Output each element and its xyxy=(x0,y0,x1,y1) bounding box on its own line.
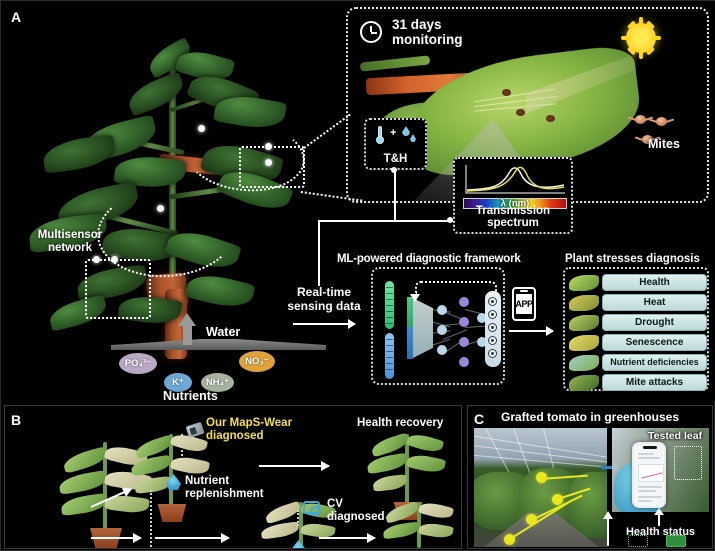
app-icon[interactable]: APP xyxy=(512,287,536,321)
tested-leaf-label: Tested leaf xyxy=(648,430,702,442)
stress-label-drought: Drought xyxy=(602,314,707,331)
spectrum-caption-line2: spectrum xyxy=(487,217,539,229)
stress-row-senescence[interactable]: Senescence xyxy=(569,333,707,352)
plant-recovered-bottom xyxy=(383,498,459,549)
health-recovery-label: Health recovery xyxy=(357,417,443,430)
timeline-divider xyxy=(150,490,152,549)
arrow-b-to-recovery xyxy=(259,465,329,467)
sensor-node-5 xyxy=(111,256,118,263)
spectrum-caption-line1: Transmission xyxy=(476,205,550,217)
monitoring-days: 31 days xyxy=(392,17,442,32)
stress-label-senescence: Senescence xyxy=(602,334,707,351)
plant-stresses-box: Health Heat Drought Senescence Nutrient … xyxy=(563,267,709,391)
panel-c-title: Grafted tomato in greenhouses xyxy=(468,410,712,424)
leaf-spot-3 xyxy=(546,115,555,122)
arrow-app-to-diagnosis xyxy=(509,330,553,332)
sensor-node-6 xyxy=(93,256,100,263)
nn-node-h1-2 xyxy=(437,325,447,335)
clock-icon xyxy=(360,21,382,43)
sensor-node-1 xyxy=(265,143,272,150)
sensor-node-4 xyxy=(157,205,164,212)
leaf-thumb-mite xyxy=(569,375,599,391)
multisensor-line2: network xyxy=(48,242,92,254)
panel-c-flow-arrow xyxy=(607,518,609,546)
maps-wear-line2: diagnosed xyxy=(206,430,264,442)
realtime-sensing-label: Real-time sensing data xyxy=(284,286,364,314)
ml-framework-box xyxy=(371,267,505,385)
panel-a-letter: A xyxy=(11,9,22,25)
ion-ammonium-label: NH₄⁺ xyxy=(206,377,229,388)
arrow-sensing-to-ml xyxy=(293,323,355,325)
nutrient-line1: Nutrient xyxy=(185,475,229,487)
ml-framework-title: ML-powered diagnostic framework xyxy=(337,253,521,265)
nn-node-h2-3 xyxy=(459,337,469,347)
spectrum-caption: Transmission spectrum xyxy=(455,205,571,230)
camera-icon xyxy=(303,501,320,514)
spectrum-curves xyxy=(461,163,569,197)
stress-label-mite: Mite attacks xyxy=(602,374,707,391)
panel-c-letter: C xyxy=(474,411,485,427)
connector-th-vertical xyxy=(394,170,396,222)
smartphone[interactable] xyxy=(632,442,666,508)
panel-b: B Our MapS-Wear diagnosed xyxy=(4,405,462,549)
leaf-thumb-nutrient xyxy=(569,355,599,371)
nutrient-line2: replenishment xyxy=(185,488,264,500)
leaf-thumb-senescence xyxy=(569,335,599,351)
health-status-label: Health status xyxy=(612,526,709,538)
leaf-thumb-drought xyxy=(569,315,599,331)
connector-node-spec xyxy=(447,217,453,223)
multisensor-line1: Multisensor xyxy=(38,229,103,241)
thermometer-icon xyxy=(377,126,383,144)
monitoring-word: monitoring xyxy=(392,32,463,47)
stress-label-nutrient: Nutrient deficiencies xyxy=(602,354,707,371)
mite-icon-2 xyxy=(656,117,667,126)
connector-down-to-ml xyxy=(318,220,320,286)
plant-stresses-title: Plant stresses diagnosis xyxy=(565,253,700,265)
leaf-spot-1 xyxy=(502,89,511,96)
output-unit-4 xyxy=(488,336,497,345)
encoder-edge-blue xyxy=(407,327,413,359)
output-unit-1 xyxy=(488,297,497,306)
stress-row-nutrient[interactable]: Nutrient deficiencies xyxy=(569,353,707,372)
mites-label: Mites xyxy=(648,137,680,151)
plus-symbol: + xyxy=(390,127,396,139)
ion-nitrate-label: NO₃⁻ xyxy=(245,356,269,367)
connector-node-th xyxy=(391,167,397,173)
feedback-arrow xyxy=(410,294,420,302)
water-label: Water xyxy=(206,325,240,339)
sensor-node-3 xyxy=(198,125,205,132)
greenhouse-photo xyxy=(474,428,607,547)
maps-wear-label: Our MapS-Wear diagnosed xyxy=(206,417,292,443)
stress-row-mite[interactable]: Mite attacks xyxy=(569,373,707,392)
stress-row-drought[interactable]: Drought xyxy=(569,313,707,332)
stress-label-heat: Heat xyxy=(602,294,707,311)
panel-c: C Grafted tomato in greenhouses xyxy=(467,405,713,549)
feedback-loop xyxy=(415,281,497,295)
mite-icon-1 xyxy=(635,115,646,124)
sensor-node-2 xyxy=(265,159,272,166)
nn-node-h1-1 xyxy=(437,305,447,315)
ion-phosphate-label: PO₄³⁻ xyxy=(125,358,151,369)
nn-node-h2-4 xyxy=(459,357,469,367)
leaf-thumb-heat xyxy=(569,295,599,311)
health-status-chip-filled xyxy=(666,535,686,547)
leaf-stalk xyxy=(360,55,431,71)
monitoring-duration-label: 31 days monitoring xyxy=(392,17,463,47)
health-status-arrow xyxy=(658,514,660,526)
th-label: T&H xyxy=(366,153,425,165)
tested-leaf-region xyxy=(674,446,702,480)
arrow-b-bottom-2 xyxy=(155,537,229,539)
phone-in-hand-photo: Tested leaf xyxy=(612,428,709,512)
nn-node-h2-2 xyxy=(459,317,469,327)
input-vector-blue xyxy=(385,333,394,379)
temperature-humidity-box: + T&H xyxy=(364,118,427,170)
connector-horizontal-main xyxy=(318,220,453,222)
transmission-spectrum-box: λ (nm) Transmission spectrum xyxy=(453,157,573,234)
figure-root: A xyxy=(0,0,715,551)
leaf-spot-2 xyxy=(516,109,525,116)
cv-leader xyxy=(297,510,299,526)
humidity-drop-icon xyxy=(402,126,410,136)
nutrients-label: Nutrients xyxy=(163,389,218,401)
ion-phosphate: PO₄³⁻ xyxy=(119,353,157,374)
output-unit-2 xyxy=(488,310,497,319)
realtime-line1: Real-time xyxy=(297,285,351,299)
humidity-drop-icon-2 xyxy=(410,134,416,142)
stress-row-heat[interactable]: Heat xyxy=(569,293,707,312)
encoder-funnel xyxy=(411,297,433,359)
panel-b-letter: B xyxy=(11,412,22,428)
nn-node-h1-3 xyxy=(437,345,447,355)
cv-line1: CV xyxy=(327,498,343,510)
ion-potassium-label: K⁺ xyxy=(172,377,184,388)
realtime-line2: sensing data xyxy=(287,299,360,313)
input-vector-green xyxy=(385,281,394,329)
output-unit-5 xyxy=(488,349,497,358)
maps-wear-line1: Our MapS-Wear xyxy=(206,417,292,429)
leaf-thumb-health xyxy=(569,275,599,291)
stress-row-health[interactable]: Health xyxy=(569,273,707,292)
multisensor-network-label: Multisensor network xyxy=(15,229,125,255)
arrow-b-bottom-1 xyxy=(91,537,141,539)
output-unit-3 xyxy=(488,323,497,332)
nn-node-h2-1 xyxy=(459,297,469,307)
stress-label-health: Health xyxy=(602,274,707,291)
ion-nitrate: NO₃⁻ xyxy=(239,351,275,372)
panel-a: A xyxy=(1,1,715,401)
nutrient-replenishment-label: Nutrient replenishment xyxy=(185,475,264,501)
app-icon-label: APP xyxy=(516,294,532,314)
app-chart xyxy=(638,464,664,482)
health-status-chip-empty xyxy=(628,535,648,547)
maps-wear-leader xyxy=(181,434,183,460)
